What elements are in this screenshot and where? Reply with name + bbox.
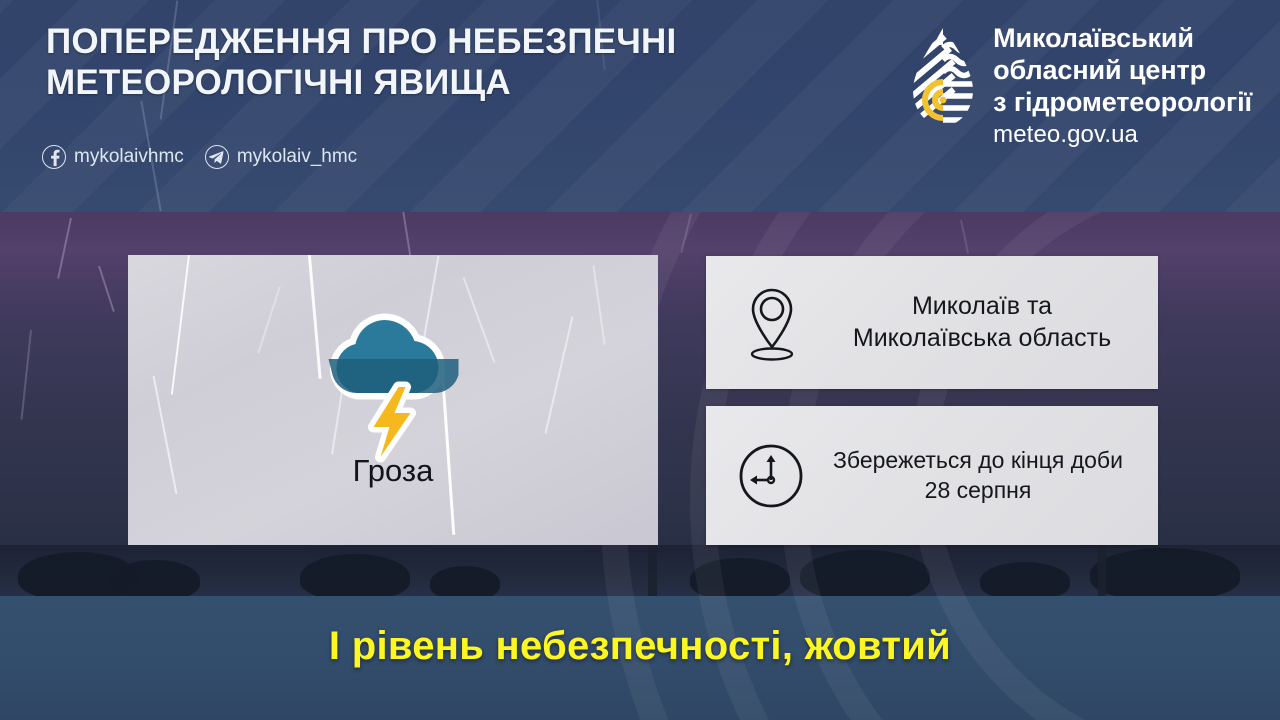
page-title: ПОПЕРЕДЖЕННЯ ПРО НЕБЕЗПЕЧНІ МЕТЕОРОЛОГІЧ… — [46, 22, 806, 104]
duration-text: Збережеться до кінця доби 28 серпня — [816, 446, 1158, 504]
pole-left — [648, 545, 657, 601]
social-facebook[interactable]: mykolaivhmc — [42, 145, 184, 169]
header-banner: ПОПЕРЕДЖЕННЯ ПРО НЕБЕЗПЕЧНІ МЕТЕОРОЛОГІЧ… — [0, 0, 1280, 212]
facebook-icon — [42, 145, 66, 169]
title-line-2: МЕТЕОРОЛОГІЧНІ ЯВИЩА — [46, 63, 806, 104]
duration-card: Збережеться до кінця доби 28 серпня — [706, 406, 1158, 545]
logo-line-2: обласний центр — [993, 54, 1252, 86]
location-card: Миколаїв та Миколаївська область — [706, 256, 1158, 389]
telegram-handle: mykolaiv_hmc — [237, 146, 357, 168]
duration-line-1: Збережеться до кінця доби — [816, 446, 1140, 475]
logo-text-block: Миколаївський обласний центр з гідромете… — [993, 22, 1252, 149]
infographic-canvas: ПОПЕРЕДЖЕННЯ ПРО НЕБЕЗПЕЧНІ МЕТЕОРОЛОГІЧ… — [0, 0, 1280, 720]
title-line-1: ПОПЕРЕДЖЕННЯ ПРО НЕБЕЗПЕЧНІ — [46, 22, 806, 63]
location-line-2: Миколаївська область — [820, 323, 1144, 355]
water-drop-logo-icon — [903, 26, 977, 130]
map-pin-icon — [743, 284, 801, 362]
logo-website[interactable]: meteo.gov.ua — [993, 121, 1252, 149]
thunderstorm-cloud-icon — [311, 289, 476, 464]
landscape-silhouette-band — [0, 545, 1280, 600]
logo-line-1: Миколаївський — [993, 22, 1252, 54]
map-pin-icon-wrap — [724, 284, 820, 362]
duration-line-2: 28 серпня — [816, 476, 1140, 505]
danger-level-text: І рівень небезпечності, жовтий — [0, 624, 1280, 669]
pole-right — [1098, 545, 1106, 601]
location-line-1: Миколаїв та — [820, 291, 1144, 323]
clock-icon — [736, 441, 806, 511]
social-telegram[interactable]: mykolaiv_hmc — [205, 145, 357, 169]
social-links: mykolaivhmc mykolaiv_hmc — [42, 145, 357, 169]
location-text: Миколаїв та Миколаївська область — [820, 291, 1158, 355]
organization-logo: Миколаївський обласний центр з гідромете… — [903, 22, 1252, 149]
clock-icon-wrap — [726, 441, 816, 511]
weather-type-label: Гроза — [128, 453, 658, 489]
telegram-icon — [205, 145, 229, 169]
logo-line-3: з гідрометеорології — [993, 86, 1252, 118]
facebook-handle: mykolaivhmc — [74, 146, 184, 168]
weather-photo-panel: Гроза — [128, 255, 658, 545]
